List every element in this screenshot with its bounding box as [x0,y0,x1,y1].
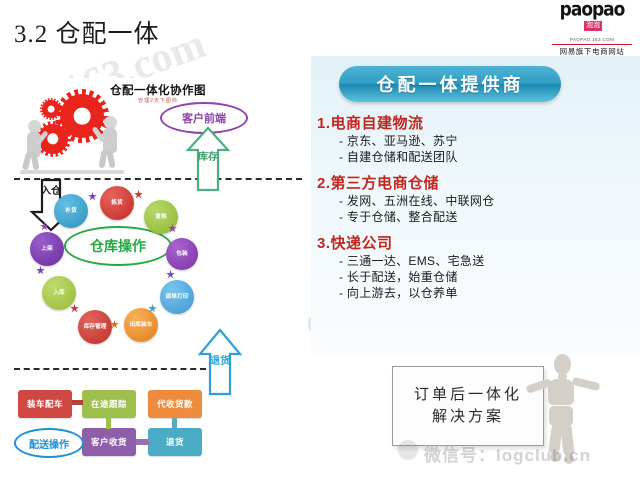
provider-group-title: 第三方电商仓储 [331,175,440,192]
node-shangjia: 上架 [30,232,64,266]
node-ruku: 入库 [42,276,76,310]
provider-panel: 仓配一体提供商 1.电商自建物流 - 京东、亚马逊、苏宁 - 自建仓储和配送团队… [311,56,640,356]
provider-group: 2.第三方电商仓储 - 发网、五洲在线、中联网仓 - 专于仓储、整合配送 [317,174,636,225]
slide-canvas: 3.2 仓配一体 paopao泡泡 PAOPAO.163.COM 网易旗下电商网… [0,0,640,480]
provider-group-number: 2. [317,175,331,192]
provider-group: 3.快递公司 - 三通一达、EMS、宅急送 - 长于配送，始重仓储 - 向上游去… [317,234,636,301]
gear-small-icon [42,100,60,118]
collaboration-diagram: 仓配一体化协作图 管理2天下图商 客户前端 [8,78,308,460]
wechat-watermark: 微信号：logclub.cn [424,441,591,466]
pbox-link [172,418,177,429]
wechat-logo-icon [398,440,418,460]
brand-logo: paopao泡泡 PAOPAO.163.COM 网易旗下电商网站 [550,2,634,57]
connector-star [166,270,175,279]
figure-ground [20,170,124,174]
callout-line-2: 解决方案 [432,406,504,428]
provider-item: - 专于仓储、整合配送 [317,209,636,225]
connector-star [70,304,79,313]
page-title: 3.2 仓配一体 [14,14,160,50]
provider-group: 1.电商自建物流 - 京东、亚马逊、苏宁 - 自建仓储和配送团队 [317,114,636,165]
node-jianhuo: 拣货 [100,186,134,220]
node-kucun-guanli: 库存管理 [78,310,112,344]
divider-dashed-bottom [14,368,206,370]
provider-banner-label: 仓配一体提供商 [377,71,524,97]
pbox-link [72,400,83,405]
pbox-kehu-shouhuo: 客户收货 [82,428,136,456]
provider-list: 1.电商自建物流 - 京东、亚马逊、苏宁 - 自建仓储和配送团队 2.第三方电商… [317,114,636,310]
provider-item: - 长于配送，始重仓储 [317,269,636,285]
provider-item: - 京东、亚马逊、苏宁 [317,133,636,149]
inventory-arrow-label: 库存 [186,152,230,163]
node-miandan-dayin: 面单打印 [160,280,194,314]
provider-item: - 向上游去，以仓养单 [317,285,636,301]
pbox-zaitu-genzong: 在途跟踪 [82,390,136,418]
brand-cn-badge: 泡泡 [584,21,602,31]
pbox-tuihuo: 退货 [148,428,202,456]
provider-item: - 自建仓储和配送团队 [317,149,636,165]
callout-line-1: 订单后一体化 [414,384,522,406]
node-chuku-zhuangche: 出库装车 [124,308,158,342]
delivery-operations-ellipse: 配送操作 [14,428,84,458]
diagram-title: 仓配一体化协作图 [8,82,308,98]
brand-divider [552,44,632,45]
node-baozhuang: 包装 [166,238,198,270]
provider-group-heading: 3.快递公司 [317,234,636,253]
return-arrow: 退货 [198,328,242,396]
pbox-daishou-huokuan: 代收货款 [148,390,202,418]
provider-group-title: 电商自建物流 [331,115,424,132]
provider-group-title: 快递公司 [331,235,393,252]
connector-star [134,190,143,199]
node-buhuo: 补货 [54,194,88,228]
connector-star [88,192,97,201]
brand-url: PAOPAO.163.COM [550,37,634,42]
provider-group-heading: 1.电商自建物流 [317,114,636,133]
provider-item: - 三通一达、EMS、宅急送 [317,253,636,269]
brand-wordmark: paopao [560,1,625,21]
provider-banner: 仓配一体提供商 [339,66,561,102]
provider-group-heading: 2.第三方电商仓储 [317,174,636,193]
connector-star [36,266,45,275]
pbox-link [136,439,149,445]
return-arrow-label: 退货 [198,356,242,367]
pbox-zhuangche-peiche: 装车配车 [18,390,72,418]
provider-item: - 发网、五洲在线、中联网仓 [317,193,636,209]
inventory-arrow: 库存 [186,126,230,192]
pbox-link [106,418,111,429]
provider-group-number: 1. [317,115,331,132]
provider-group-number: 3. [317,235,331,252]
